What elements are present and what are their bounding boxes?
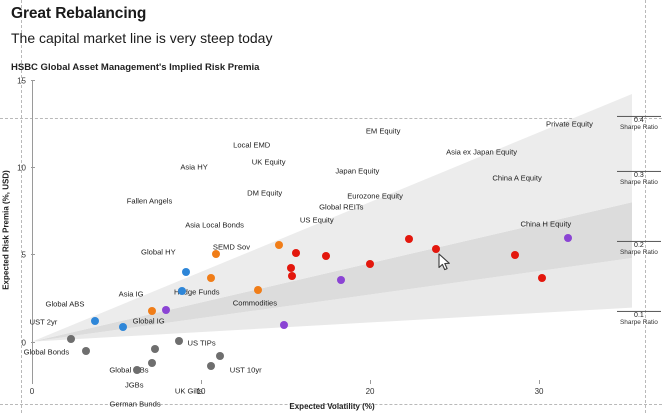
sharpe-ratio-caption: Sharpe Ratio	[617, 319, 661, 327]
data-point[interactable]	[207, 362, 215, 370]
y-tick-label: 0	[22, 338, 26, 347]
data-point-label: China A Equity	[492, 173, 541, 182]
x-tick	[201, 380, 202, 384]
data-point[interactable]	[288, 272, 296, 280]
x-tick-label: 0	[30, 387, 34, 396]
data-point-label: Fallen Angels	[127, 197, 173, 206]
sharpe-ratio-caption: Sharpe Ratio	[617, 124, 661, 132]
data-point-label: UK Gilts	[175, 387, 203, 396]
data-point-label: DM Equity	[247, 188, 282, 197]
data-point[interactable]	[151, 345, 159, 353]
data-point-label: US TIPs	[187, 339, 215, 348]
data-point[interactable]	[82, 347, 90, 355]
y-tick: 10	[31, 167, 35, 168]
data-point[interactable]	[287, 264, 295, 272]
data-point[interactable]	[337, 276, 345, 284]
data-point[interactable]	[148, 359, 156, 367]
mouse-cursor	[438, 253, 452, 271]
data-point[interactable]	[280, 321, 288, 329]
data-point[interactable]	[175, 337, 183, 345]
page-title: Great Rebalancing	[11, 5, 146, 23]
x-tick-label: 30	[535, 387, 544, 396]
data-point[interactable]	[162, 306, 170, 314]
sharpe-ratio-value: 0.1	[617, 311, 661, 319]
sharpe-ratio-annotation: 0.1Sharpe Ratio	[617, 311, 661, 327]
data-point[interactable]	[511, 251, 519, 259]
data-point-label: Asia Local Bonds	[185, 220, 244, 229]
data-point[interactable]	[207, 274, 215, 282]
x-tick	[370, 380, 371, 384]
y-axis-line	[32, 80, 33, 380]
data-point-label: Private Equity	[546, 120, 593, 129]
data-point[interactable]	[322, 252, 330, 260]
data-point-label: Global IG	[133, 316, 165, 325]
data-point[interactable]	[216, 352, 224, 360]
data-point-label: UST 2yr	[30, 318, 58, 327]
data-point-label: German Bunds	[110, 400, 161, 409]
sharpe-ratio-annotation: 0.4Sharpe Ratio	[617, 116, 661, 132]
sharpe-ratio-caption: Sharpe Ratio	[617, 249, 661, 257]
data-point-label: SEMD Sov	[213, 243, 250, 252]
sharpe-ratio-caption: Sharpe Ratio	[617, 179, 661, 187]
data-point[interactable]	[538, 274, 546, 282]
data-point[interactable]	[148, 307, 156, 315]
data-point[interactable]	[182, 268, 190, 276]
data-point[interactable]	[405, 235, 413, 243]
data-point-label: Asia ex Japan Equity	[446, 147, 517, 156]
data-point-label: Global REITs	[319, 203, 363, 212]
data-point-label: Asia IG	[119, 289, 144, 298]
data-point[interactable]	[133, 366, 141, 374]
data-point-label: Global HY	[141, 247, 176, 256]
data-point[interactable]	[119, 323, 127, 331]
y-tick: 15	[31, 80, 35, 81]
y-tick: 5	[31, 254, 35, 255]
data-point-label: Global ILBs	[109, 365, 148, 374]
data-point-label: UST 10yr	[230, 366, 262, 375]
y-tick-label: 5	[22, 251, 26, 260]
page-subtitle: The capital market line is very steep to…	[11, 30, 272, 46]
data-point[interactable]	[292, 249, 300, 257]
data-point-label: JGBs	[125, 381, 144, 390]
data-point-label: Japan Equity	[335, 166, 379, 175]
y-tick: 0	[31, 342, 35, 343]
data-point[interactable]	[67, 335, 75, 343]
sharpe-ratio-bands	[32, 80, 632, 380]
scatter-plot: 051015 0102030 UST 2yrGlobal BondsGlobal…	[32, 80, 632, 380]
data-point-label: US Equity	[300, 216, 334, 225]
x-axis-label: Expected Volatility (%)	[289, 402, 374, 411]
sharpe-ratio-value: 0.2	[617, 241, 661, 249]
data-point-label: UK Equity	[252, 157, 286, 166]
slide-canvas: Great Rebalancing The capital market lin…	[0, 0, 662, 413]
data-point[interactable]	[254, 286, 262, 294]
data-point-label: Asia HY	[180, 163, 207, 172]
data-point-label: Local EMD	[233, 141, 270, 150]
data-point-label: China H Equity	[520, 219, 571, 228]
y-tick-label: 10	[17, 164, 26, 173]
x-tick	[539, 380, 540, 384]
sharpe-ratio-annotation: 0.2Sharpe Ratio	[617, 241, 661, 257]
data-point[interactable]	[91, 317, 99, 325]
data-point-label: Eurozone Equity	[347, 191, 403, 200]
data-point[interactable]	[564, 234, 572, 242]
data-point-label: Global Bonds	[24, 348, 70, 357]
data-point[interactable]	[275, 241, 283, 249]
y-axis-label: Expected Risk Premia (%, USD)	[2, 170, 11, 290]
data-point-label: EM Equity	[366, 126, 401, 135]
slide-guide-right	[645, 0, 646, 413]
data-point[interactable]	[366, 260, 374, 268]
y-tick-label: 15	[17, 77, 26, 86]
x-tick	[32, 380, 33, 384]
x-tick-label: 20	[366, 387, 375, 396]
data-point[interactable]	[432, 245, 440, 253]
sharpe-ratio-annotation: 0.3Sharpe Ratio	[617, 171, 661, 187]
data-point-label: Global ABS	[46, 300, 85, 309]
sharpe-ratio-value: 0.4	[617, 116, 661, 124]
chart-title: HSBC Global Asset Management's Implied R…	[11, 62, 259, 73]
sharpe-ratio-value: 0.3	[617, 171, 661, 179]
data-point[interactable]	[178, 287, 186, 295]
data-point-label: Commodities	[233, 299, 277, 308]
